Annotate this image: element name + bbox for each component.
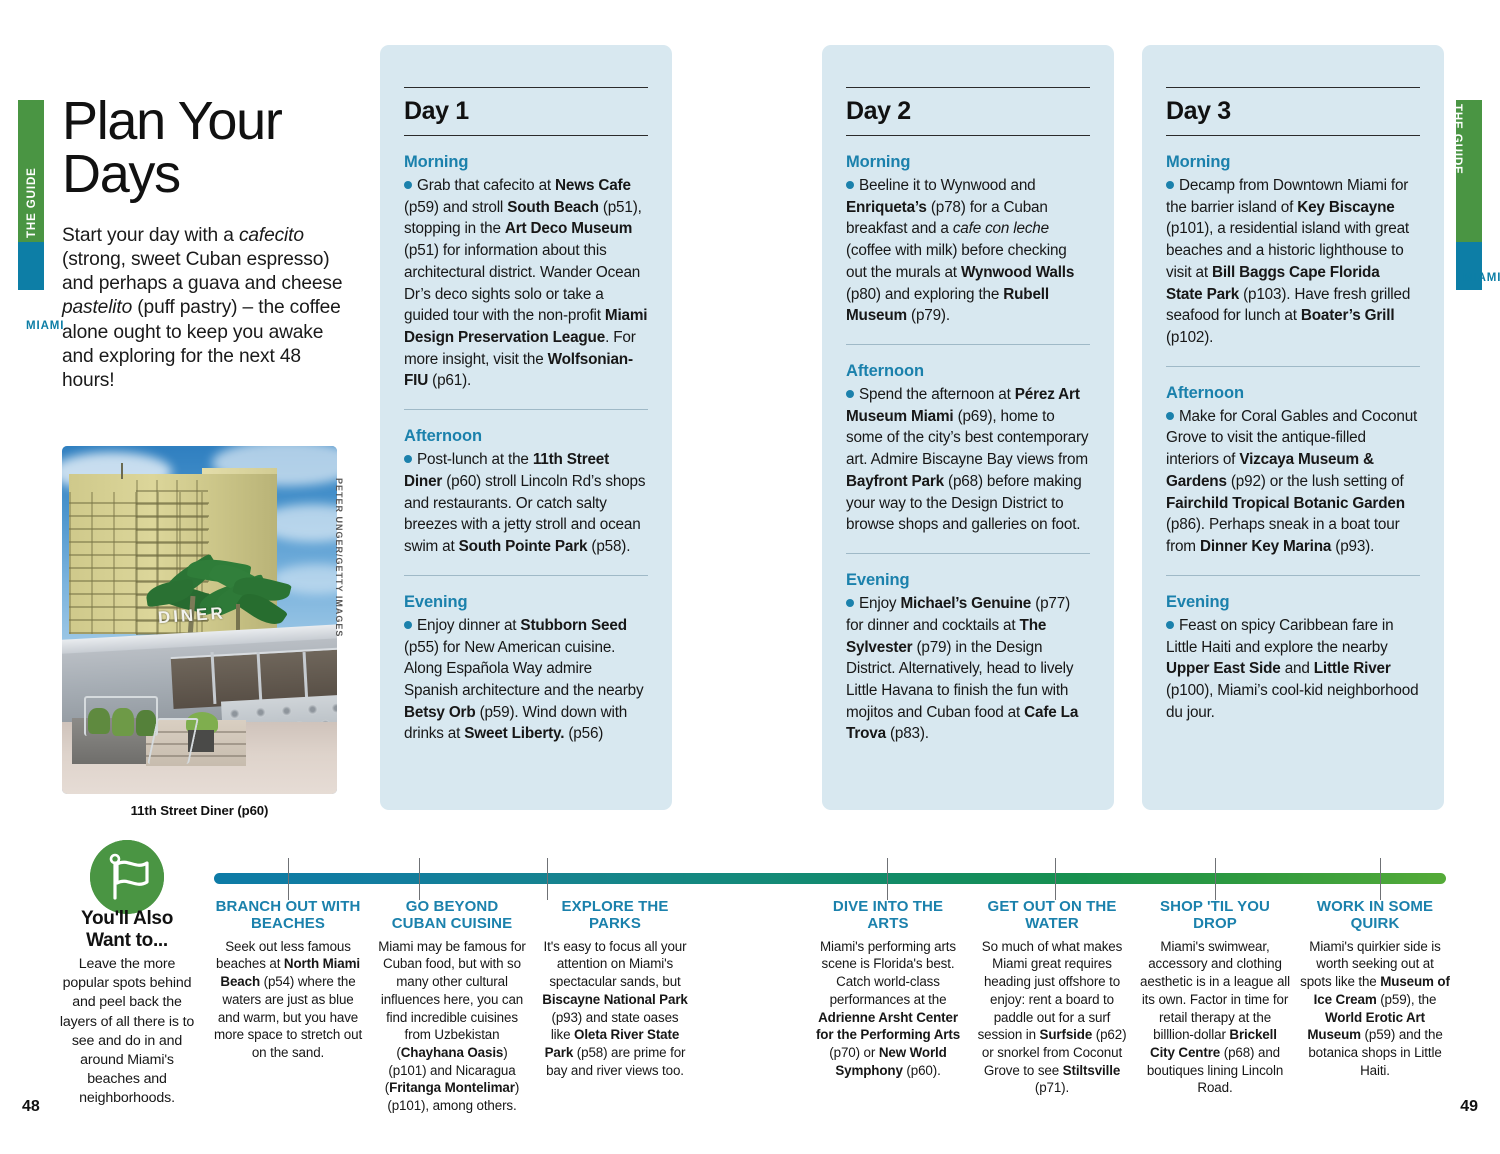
bullet-icon	[404, 455, 412, 463]
day-slot-afternoon: Afternoon Make for Coral Gables and Coco…	[1166, 366, 1420, 558]
topic-tick	[1055, 858, 1056, 900]
topic-body: Miami's swimwear, accessory and clothing…	[1140, 938, 1290, 1097]
tab-miami-label-right: MIAMI	[1463, 272, 1500, 284]
slot-label: Morning	[846, 153, 1090, 172]
day-slot-evening: Evening Feast on spicy Caribbean fare in…	[1166, 575, 1420, 724]
photo-caption: 11th Street Diner (p60)	[62, 803, 337, 818]
topic-work-in-some-quirk: WORK IN SOME QUIRK Miami's quirkier side…	[1300, 898, 1450, 1079]
slot-label: Afternoon	[1166, 384, 1420, 403]
page-title: Plan Your Days	[62, 95, 358, 202]
photo-image: DINER	[62, 446, 337, 794]
diner-photo: DINER	[62, 446, 337, 794]
topic-shop-til-you-drop: SHOP 'TIL YOU DROP Miami's swimwear, acc…	[1140, 898, 1290, 1097]
topic-title: SHOP 'TIL YOU DROP	[1140, 898, 1290, 933]
slot-text: Beeline it to Wynwood and Enriqueta’s (p…	[846, 175, 1090, 327]
day-title: Day 1	[404, 87, 648, 136]
intro-column: Plan Your Days Start your day with a caf…	[62, 95, 358, 393]
topic-body: Seek out less famous beaches at North Mi…	[212, 938, 364, 1062]
slot-text: Make for Coral Gables and Coconut Grove …	[1166, 406, 1420, 558]
flag-icon-glyph	[90, 840, 164, 914]
slot-text: Grab that cafecito at News Cafe (p59) an…	[404, 175, 648, 392]
day-slot-morning: Morning Decamp from Downtown Miami for t…	[1166, 136, 1420, 349]
topic-tick	[419, 858, 420, 900]
page-number-left: 48	[22, 1098, 40, 1116]
topic-tick	[887, 858, 888, 900]
also-want-to-heading: You'll Also Want to...	[60, 908, 194, 953]
topics-gradient-bar	[214, 873, 1446, 884]
slot-text: Decamp from Downtown Miami for the barri…	[1166, 175, 1420, 349]
topic-title: GO BEYOND CUBAN CUISINE	[378, 898, 526, 933]
topic-title: WORK IN SOME QUIRK	[1300, 898, 1450, 933]
day-title: Day 3	[1166, 87, 1420, 136]
day-slot-morning: Morning Beeline it to Wynwood and Enriqu…	[846, 136, 1090, 327]
slot-label: Evening	[404, 593, 648, 612]
tab-miami-label-left: MIAMI	[26, 320, 64, 332]
topic-title: EXPLORE THE PARKS	[540, 898, 690, 933]
day-title: Day 2	[846, 87, 1090, 136]
topic-body: Miami's performing arts scene is Florida…	[812, 938, 964, 1080]
day-slot-evening: Evening Enjoy Michael’s Genuine (p77) fo…	[846, 553, 1090, 745]
tab-the-guide-label-left: THE GUIDE	[26, 167, 38, 238]
topic-body: Miami's quirkier side is worth seeking o…	[1300, 938, 1450, 1080]
slot-text: Spend the afternoon at Pérez Art Museum …	[846, 384, 1090, 536]
topic-tick	[1380, 858, 1381, 900]
topic-title: DIVE INTO THE ARTS	[812, 898, 964, 933]
slot-text: Enjoy Michael’s Genuine (p77) for dinner…	[846, 593, 1090, 745]
bullet-icon	[846, 390, 854, 398]
topic-branch-out-with-beaches: BRANCH OUT WITH BEACHES Seek out less fa…	[212, 898, 364, 1062]
slot-label: Afternoon	[846, 362, 1090, 381]
topic-dive-into-the-arts: DIVE INTO THE ARTS Miami's performing ar…	[812, 898, 964, 1079]
bullet-icon	[846, 599, 854, 607]
tab-miami-left	[18, 242, 44, 290]
bullet-icon	[1166, 621, 1174, 629]
handrail	[84, 696, 158, 736]
day-slot-afternoon: Afternoon Spend the afternoon at Pérez A…	[846, 344, 1090, 536]
slot-label: Evening	[846, 571, 1090, 590]
bullet-icon	[1166, 181, 1174, 189]
diner-sign: DINER	[157, 604, 222, 630]
day-slot-morning: Morning Grab that cafecito at News Cafe …	[404, 136, 648, 392]
day-slot-evening: Evening Enjoy dinner at Stubborn Seed (p…	[404, 575, 648, 745]
topic-tick	[1215, 858, 1216, 900]
slot-text: Post-lunch at the 11th Street Diner (p60…	[404, 449, 648, 558]
intro-paragraph: Start your day with a cafecito (strong, …	[62, 224, 358, 393]
slot-label: Afternoon	[404, 427, 648, 446]
topic-explore-the-parks: EXPLORE THE PARKS It's easy to focus all…	[540, 898, 690, 1079]
slot-label: Evening	[1166, 593, 1420, 612]
topic-title: GET OUT ON THE WATER	[976, 898, 1128, 933]
day-slot-afternoon: Afternoon Post-lunch at the 11th Street …	[404, 409, 648, 558]
also-want-to-body: Leave the more popular spots behind and …	[54, 955, 200, 1108]
topic-get-out-on-the-water: GET OUT ON THE WATER So much of what mak…	[976, 898, 1128, 1097]
day-card-1: Day 1 Morning Grab that cafecito at News…	[380, 45, 672, 810]
topic-body: Miami may be famous for Cuban food, but …	[378, 938, 526, 1115]
page-number-right: 49	[1460, 1098, 1478, 1116]
tab-the-guide-label-right: THE GUIDE	[1451, 104, 1463, 175]
topic-body: So much of what makes Miami great requir…	[976, 938, 1128, 1097]
bullet-icon	[1166, 412, 1174, 420]
slot-text: Enjoy dinner at Stubborn Seed (p55) for …	[404, 615, 648, 745]
day-card-2: Day 2 Morning Beeline it to Wynwood and …	[822, 45, 1114, 810]
topic-go-beyond-cuban-cuisine: GO BEYOND CUBAN CUISINE Miami may be fam…	[378, 898, 526, 1115]
photo-credit: PETER UNGER/GETTY IMAGES	[334, 478, 344, 637]
topic-title: BRANCH OUT WITH BEACHES	[212, 898, 364, 933]
slot-label: Morning	[1166, 153, 1420, 172]
topic-tick	[288, 858, 289, 900]
day-card-3: Day 3 Morning Decamp from Downtown Miami…	[1142, 45, 1444, 810]
topic-body: It's easy to focus all your attention on…	[540, 938, 690, 1080]
tower-antenna	[121, 463, 123, 479]
slot-label: Morning	[404, 153, 648, 172]
slot-text: Feast on spicy Caribbean fare in Little …	[1166, 615, 1420, 724]
flag-icon	[90, 840, 164, 914]
bullet-icon	[846, 181, 854, 189]
bullet-icon	[404, 181, 412, 189]
topic-tick	[547, 858, 548, 900]
bullet-icon	[404, 621, 412, 629]
